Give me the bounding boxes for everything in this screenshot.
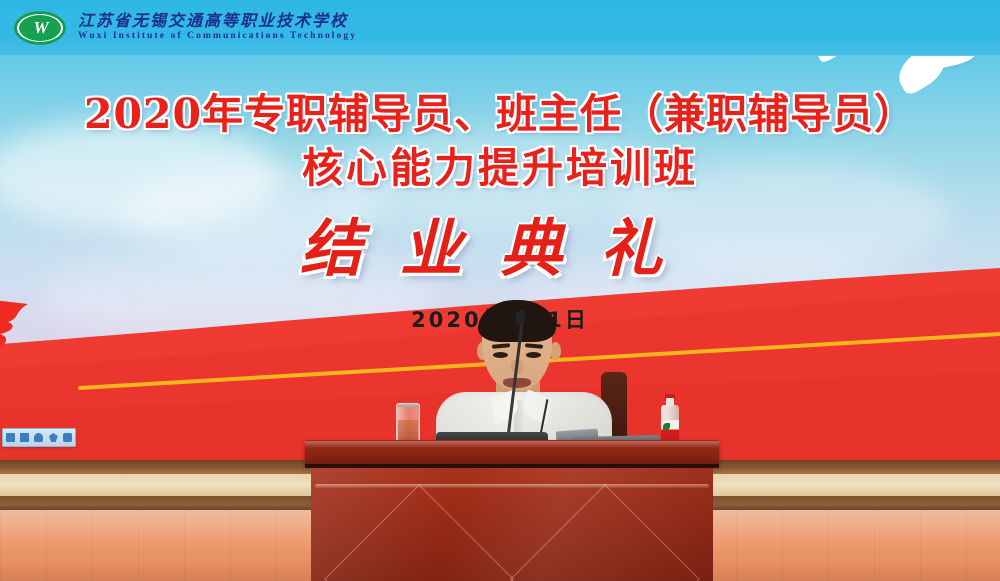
person-icon <box>34 433 43 442</box>
school-header-band: W 江苏省无锡交通高等职业技术学校 Wuxi Institute of Comm… <box>0 0 1000 56</box>
screenshot-root: W 江苏省无锡交通高等职业技术学校 Wuxi Institute of Comm… <box>0 0 1000 581</box>
envelope-icon <box>20 433 29 442</box>
podium-trim-rail <box>315 484 709 488</box>
eye <box>526 352 541 358</box>
school-name-block: 江苏省无锡交通高等职业技术学校 Wuxi Institute of Commun… <box>78 13 357 42</box>
school-emblem-monogram: W <box>14 11 66 45</box>
water-bottle <box>660 398 680 446</box>
grid-icon <box>63 433 72 442</box>
school-emblem-icon: W <box>14 11 66 45</box>
arrow-down-icon <box>6 433 15 442</box>
cloud-decoration <box>330 130 670 230</box>
school-name-english: Wuxi Institute of Communications Technol… <box>78 32 357 42</box>
mouth <box>503 378 531 388</box>
eye <box>493 352 508 358</box>
shirt-icon <box>49 433 58 442</box>
red-flag-motif <box>0 300 34 370</box>
cloud-decoration <box>620 160 950 270</box>
school-name-chinese: 江苏省无锡交通高等职业技术学校 <box>78 13 357 30</box>
podium-tabletop-highlight <box>305 441 719 448</box>
wall-pictogram-sign <box>2 428 76 447</box>
